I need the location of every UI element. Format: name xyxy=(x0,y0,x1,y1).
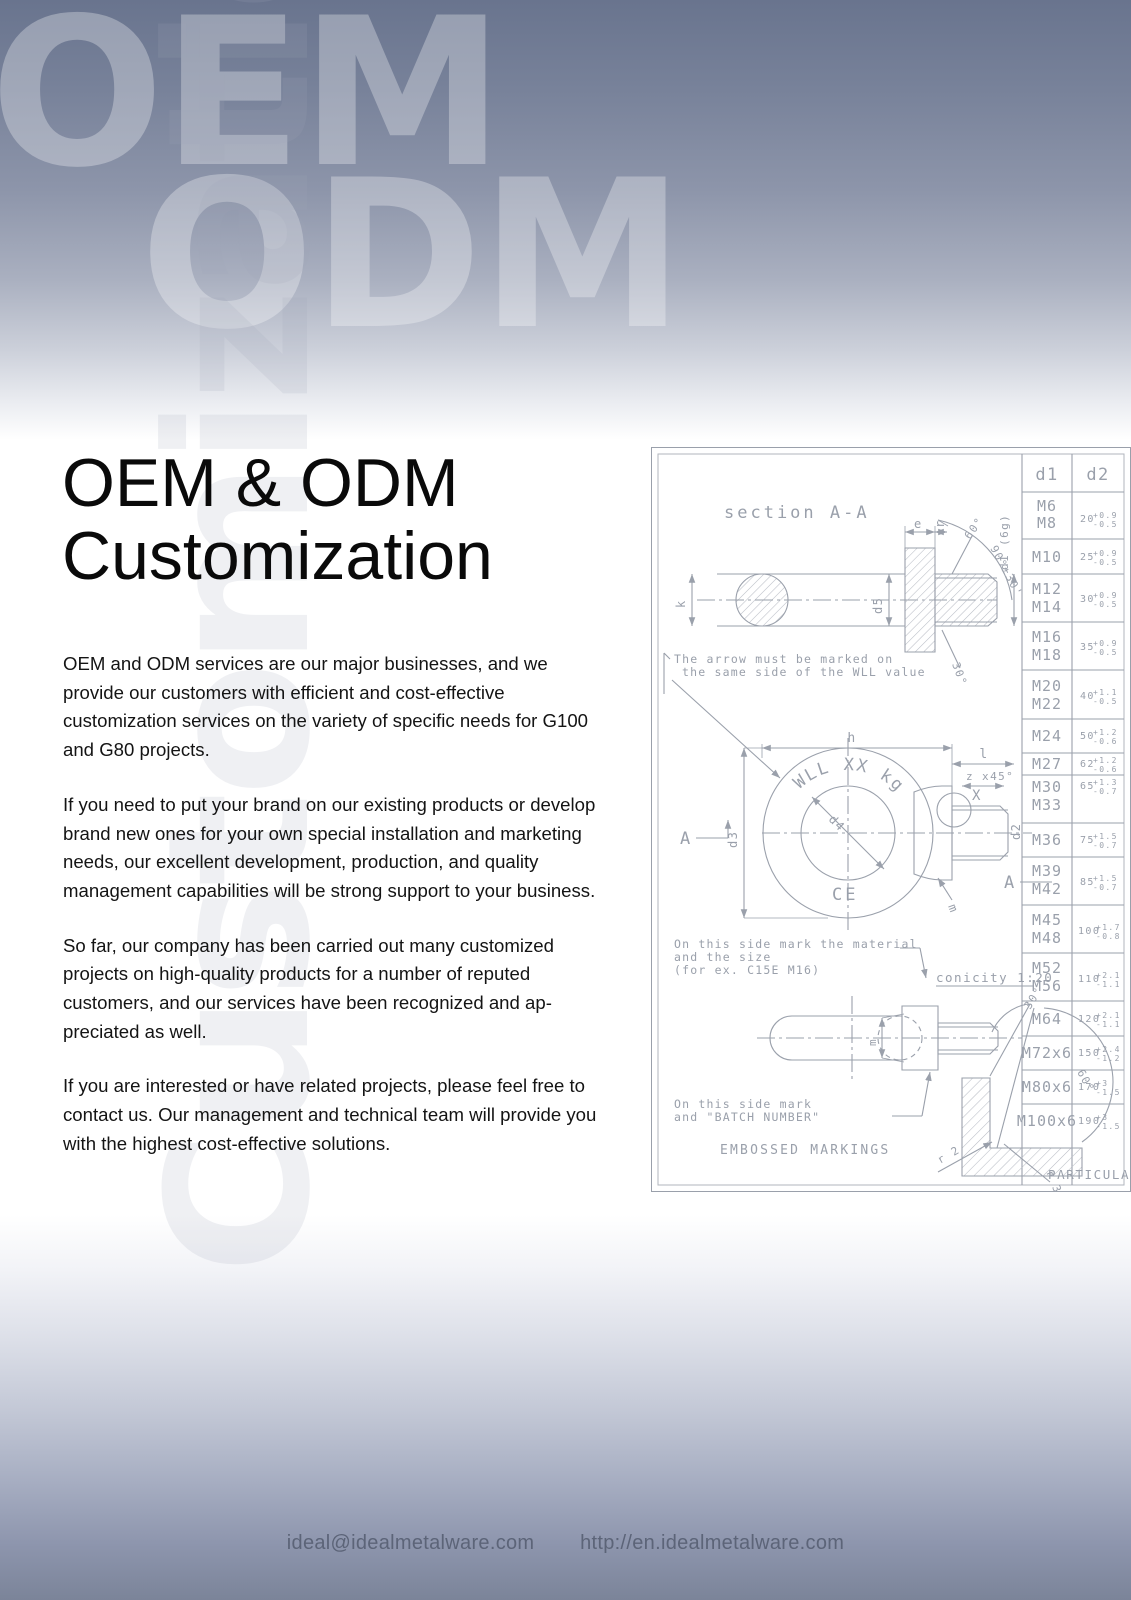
paragraph: So far, our company has been carried out… xyxy=(63,932,597,1047)
table-cell-d1: M6 xyxy=(1037,497,1057,515)
svg-text:+1.5: +1.5 xyxy=(1093,874,1118,883)
table-cell-d1: M42 xyxy=(1032,880,1062,898)
svg-text:-0.5: -0.5 xyxy=(1093,558,1118,567)
svg-text:+0.9: +0.9 xyxy=(1093,511,1118,520)
table-cell-d2: 110+2.1-1.1 xyxy=(1078,971,1121,989)
batch-note-line-2: and "BATCH NUMBER" xyxy=(674,1110,820,1124)
table-header-d1: d1 xyxy=(1035,465,1058,485)
table-cell-d1: M36 xyxy=(1032,831,1062,849)
svg-text:+1.2: +1.2 xyxy=(1093,756,1118,765)
svg-text:-0.7: -0.7 xyxy=(1093,883,1118,892)
table-cell-d2: 120+2.1-1.1 xyxy=(1078,1011,1121,1029)
table-cell-d2: 190+3-1.5 xyxy=(1078,1113,1121,1131)
footer-website[interactable]: http://en.idealmetalware.com xyxy=(580,1532,844,1555)
table-cell-d2: 50+1.2-0.6 xyxy=(1080,728,1118,746)
svg-text:-0.7: -0.7 xyxy=(1093,787,1118,796)
dim-x-label: X xyxy=(972,788,982,804)
svg-text:+0.9: +0.9 xyxy=(1093,639,1118,648)
page-title-line-2: Customization xyxy=(62,520,622,593)
svg-text:+3: +3 xyxy=(1096,1079,1108,1088)
arrow-note-line-2: the same side of the WLL value xyxy=(682,665,926,679)
ring-marking-label: WLL XX kg xyxy=(790,755,909,797)
table-cell-d2: 30+0.9-0.5 xyxy=(1080,591,1118,609)
table-cell-d1: M80x6 xyxy=(1022,1078,1072,1096)
svg-text:+1.1: +1.1 xyxy=(1093,688,1118,697)
table-header-d2: d2 xyxy=(1086,465,1109,485)
svg-text:-0.5: -0.5 xyxy=(1093,600,1118,609)
dim-z-label: z x45° xyxy=(966,770,1014,783)
svg-text:+1.3: +1.3 xyxy=(1093,778,1118,787)
page-title-line-1: OEM & ODM xyxy=(62,447,622,520)
arrow-note-line-1: The arrow must be marked on xyxy=(674,652,893,666)
table-cell-d1: M20 xyxy=(1032,677,1062,695)
table-cell-d2: 62+1.2-0.6 xyxy=(1080,756,1118,774)
table-cell-d1: M10 xyxy=(1032,548,1062,566)
svg-text:+2.1: +2.1 xyxy=(1096,971,1121,980)
dim-m-side-label: m xyxy=(866,1038,879,1046)
table-cell-d2: 25+0.9-0.5 xyxy=(1080,549,1118,567)
table-cell-d1: M48 xyxy=(1032,929,1062,947)
svg-text:+2.4: +2.4 xyxy=(1096,1045,1121,1054)
svg-text:+2.1: +2.1 xyxy=(1096,1011,1121,1020)
table-cell-d1: M8 xyxy=(1037,514,1057,532)
svg-text:-0.7: -0.7 xyxy=(1093,841,1118,850)
table-cell-d2: 75+1.5-0.7 xyxy=(1080,832,1118,850)
particular-label: PARTICULAR xyxy=(1048,1167,1130,1182)
table-cell-d1: M33 xyxy=(1032,796,1062,814)
svg-text:-0.6: -0.6 xyxy=(1093,737,1118,746)
paragraph: If you are interested or have related pr… xyxy=(63,1072,597,1158)
page-title: OEM & ODM Customization xyxy=(62,447,622,593)
table-cell-d1: M27 xyxy=(1032,755,1062,773)
dim-d5-label: d5 xyxy=(871,597,885,614)
section-letter-a-right: A xyxy=(1004,873,1016,893)
table-cell-d2: 85+1.5-0.7 xyxy=(1080,874,1118,892)
table-cell-d1: M39 xyxy=(1032,862,1062,880)
table-cell-d1: M22 xyxy=(1032,695,1062,713)
section-title: section A-A xyxy=(724,503,870,523)
material-note-line-1: On this side mark the material xyxy=(674,937,918,951)
table-cell-d2: 65+1.3-0.7 xyxy=(1080,778,1118,796)
svg-text:+1.2: +1.2 xyxy=(1093,728,1118,737)
angle-30-label: 30° xyxy=(949,661,969,688)
table-cell-d2: 35+0.9-0.5 xyxy=(1080,639,1118,657)
technical-drawing: d1 d2 M6 M8 M10 M12 M14 M16 M18 M20 M22 … xyxy=(651,447,1131,1192)
svg-text:-1.1: -1.1 xyxy=(1096,980,1121,989)
table-cell-d2: 100+1.7-0.8 xyxy=(1078,923,1121,941)
svg-text:-0.6: -0.6 xyxy=(1093,765,1118,774)
dim-m-label: m xyxy=(945,902,961,915)
page-content: OEM & ODM Customization OEM and ODM serv… xyxy=(0,0,1131,1600)
body-text-column: OEM and ODM services are our major busin… xyxy=(63,650,597,1159)
table-cell-d1: M18 xyxy=(1032,646,1062,664)
embossed-markings-label: EMBOSSED MARKINGS xyxy=(720,1143,890,1158)
table-cell-d1: M45 xyxy=(1032,911,1062,929)
svg-text:-1.1: -1.1 xyxy=(1096,1020,1121,1029)
dim-l-label: l xyxy=(979,747,988,762)
material-note-line-3: (for ex. C15E M16) xyxy=(674,963,820,977)
table-cell-d1: M16 xyxy=(1032,628,1062,646)
footer-contact: ideal@idealmetalware.com http://en.ideal… xyxy=(0,1532,1131,1555)
footer-email[interactable]: ideal@idealmetalware.com xyxy=(287,1532,535,1555)
svg-text:+1.5: +1.5 xyxy=(1093,832,1118,841)
table-cell-d1: M100x6 xyxy=(1017,1112,1077,1130)
table-cell-d2: 40+1.1-0.5 xyxy=(1080,688,1118,706)
dim-d1-6g-label: d1 (6g) xyxy=(998,514,1011,570)
svg-text:+0.9: +0.9 xyxy=(1093,549,1118,558)
table-cell-d1: M64 xyxy=(1032,1010,1062,1028)
table-cell-d1: M14 xyxy=(1032,598,1062,616)
batch-note-line-1: On this side mark xyxy=(674,1097,812,1111)
svg-text:-0.5: -0.5 xyxy=(1093,697,1118,706)
angle-60-label: 60° xyxy=(962,515,986,542)
radius-r2-label: r 2 xyxy=(935,1143,962,1166)
dim-d2-label: d2 xyxy=(1009,823,1023,840)
svg-text:-0.5: -0.5 xyxy=(1093,648,1118,657)
paragraph: OEM and ODM services are our major busin… xyxy=(63,650,597,765)
dim-e-label: e xyxy=(914,517,923,531)
ce-mark-label: CE xyxy=(832,885,858,905)
table-cell-d1: M72x6 xyxy=(1022,1044,1072,1062)
paragraph: If you need to put your brand on our exi… xyxy=(63,791,597,906)
conicity-label: conicity 1:20 xyxy=(936,970,1053,985)
table-cell-d1: M24 xyxy=(1032,727,1062,745)
svg-text:+0.9: +0.9 xyxy=(1093,591,1118,600)
table-cell-d2: 20+0.9-0.5 xyxy=(1080,511,1118,529)
svg-text:+1.7: +1.7 xyxy=(1096,923,1121,932)
table-cell-d1: M30 xyxy=(1032,778,1062,796)
dim-h-label: h xyxy=(847,731,856,746)
svg-text:-0.5: -0.5 xyxy=(1093,520,1118,529)
material-note-line-2: and the size xyxy=(674,950,771,964)
svg-text:-1.5: -1.5 xyxy=(1096,1088,1121,1097)
dim-k-label: k xyxy=(674,599,688,608)
table-cell-d2: 150+2.4-1.2 xyxy=(1078,1045,1121,1063)
section-letter-a-left: A xyxy=(680,829,692,849)
svg-text:-0.8: -0.8 xyxy=(1096,932,1121,941)
table-cell-d1: M12 xyxy=(1032,580,1062,598)
dim-d4-label: d4 xyxy=(826,812,848,834)
